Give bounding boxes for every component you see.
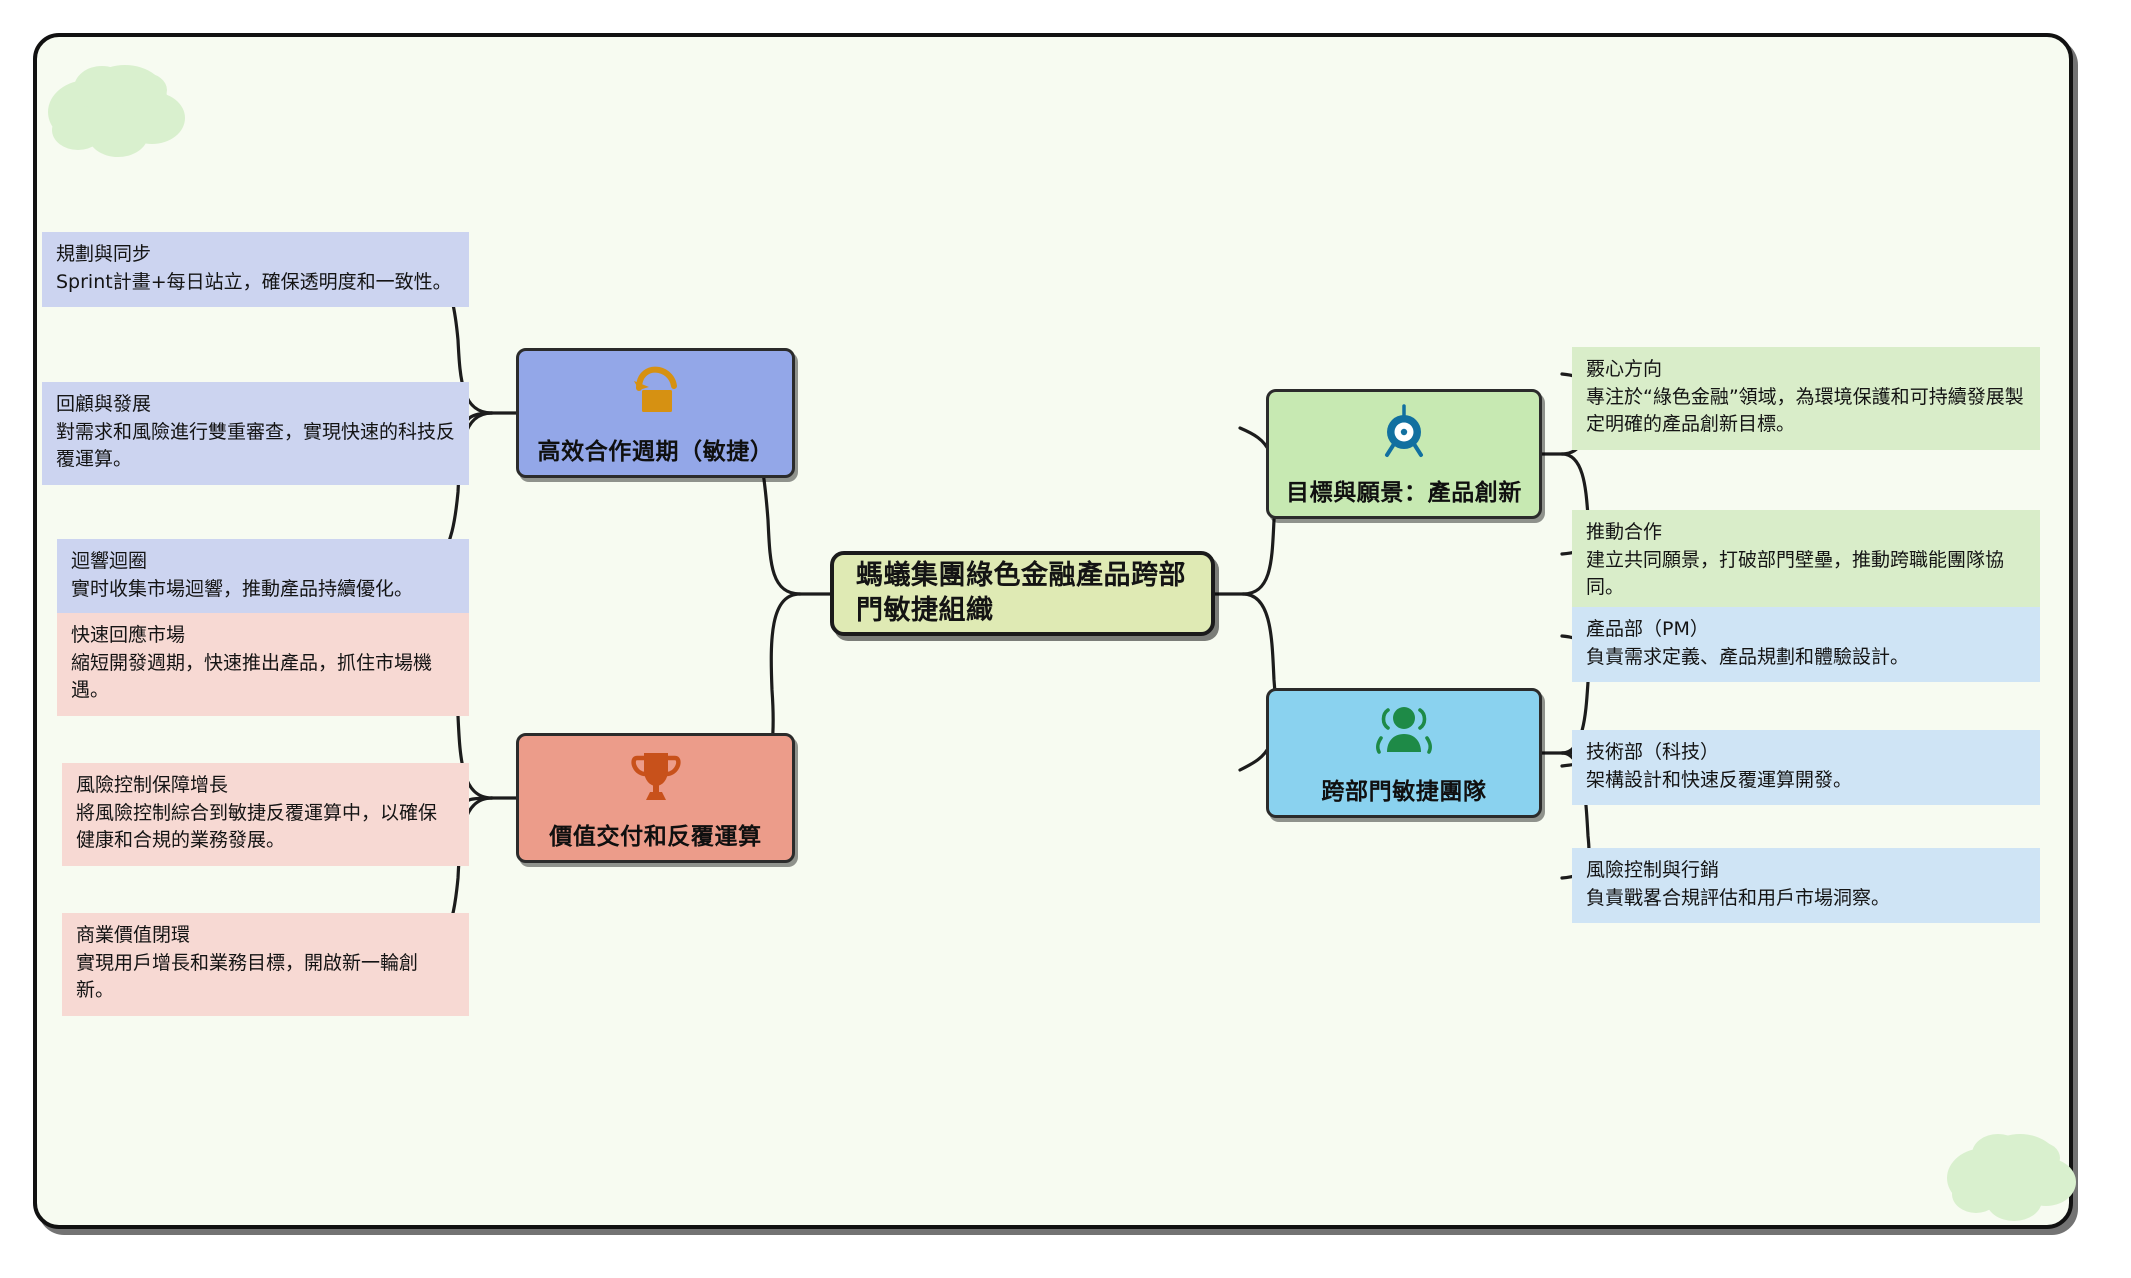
branch-label-agile: 高效合作週期（敏捷） [538, 432, 774, 466]
branch-label-value: 價值交付和反覆運算 [549, 817, 761, 851]
branch-label-team: 跨部門敏捷團隊 [1321, 772, 1486, 806]
trophy-icon [519, 736, 792, 817]
target-icon [1269, 392, 1539, 473]
leaf-description: 縮短開發週期，快速推出產品，抓住市場機遇。 [71, 650, 455, 705]
leaf-description: 實时收集市場迴響，推動產品持續優化。 [71, 576, 455, 604]
leaf-node[interactable]: 快速回應市場 縮短開發週期，快速推出產品，抓住市場機遇。 [57, 613, 469, 716]
leaf-description: Sprint計畫+每日站立，確保透明度和一致性。 [56, 269, 455, 297]
leaf-description: 將風險控制綜合到敏捷反覆運算中，以確保健康和合規的業務發展。 [76, 800, 455, 855]
unlock-icon [519, 351, 792, 432]
leaf-title: 技術部（科技） [1586, 739, 2026, 767]
leaf-title: 回顧與發展 [56, 391, 455, 419]
leaf-title: 覈心方向 [1586, 356, 2026, 384]
leaf-node[interactable]: 風險控制與行銷 負責戰畧合規評估和用戶市場洞察。 [1572, 848, 2040, 923]
branch-node-team[interactable]: 跨部門敏捷團隊 [1266, 688, 1542, 818]
leaf-node[interactable]: 覈心方向 專注於“綠色金融”領域，為環境保護和可持續發展製定明確的產品創新目標。 [1572, 347, 2040, 450]
leaf-title: 風險控制保障增長 [76, 772, 455, 800]
central-node-label: 螞蟻集團綠色金融產品跨部門敏捷組織 [856, 559, 1189, 628]
branch-label-goal: 目標與願景：產品創新 [1286, 473, 1522, 507]
leaf-description: 對需求和風險進行雙重審查，實現快速的科技反覆運算。 [56, 419, 455, 474]
mindmap-canvas: 螞蟻集團綠色金融產品跨部門敏捷組織 高效合作週期（敏捷） 價值交付和反覆運算 [0, 0, 2131, 1278]
leaf-description: 負責需求定義、產品規劃和體驗設計。 [1586, 644, 2026, 672]
leaf-node[interactable]: 迴響迴圈 實时收集市場迴響，推動產品持續優化。 [57, 539, 469, 614]
leaf-description: 負責戰畧合規評估和用戶市場洞察。 [1586, 885, 2026, 913]
branch-node-goal[interactable]: 目標與願景：產品創新 [1266, 389, 1542, 519]
leaf-title: 推動合作 [1586, 519, 2026, 547]
leaf-description: 建立共同願景，打破部門壁壘，推動跨職能團隊協同。 [1586, 547, 2026, 602]
leaf-title: 產品部（PM） [1586, 616, 2026, 644]
central-node[interactable]: 螞蟻集團綠色金融產品跨部門敏捷組織 [830, 551, 1215, 636]
leaf-description: 實現用戶增長和業務目標，開啟新一輪創新。 [76, 950, 455, 1005]
leaf-description: 架構設計和快速反覆運算開發。 [1586, 767, 2026, 795]
leaf-title: 商業價值閉環 [76, 922, 455, 950]
leaf-title: 迴響迴圈 [71, 548, 455, 576]
leaf-node[interactable]: 風險控制保障增長 將風險控制綜合到敏捷反覆運算中，以確保健康和合規的業務發展。 [62, 763, 469, 866]
leaf-node[interactable]: 產品部（PM） 負責需求定義、產品規劃和體驗設計。 [1572, 607, 2040, 682]
leaf-node[interactable]: 推動合作 建立共同願景，打破部門壁壘，推動跨職能團隊協同。 [1572, 510, 2040, 613]
leaf-description: 專注於“綠色金融”領域，為環境保護和可持續發展製定明確的產品創新目標。 [1586, 384, 2026, 439]
branch-node-value[interactable]: 價值交付和反覆運算 [516, 733, 795, 863]
leaf-node[interactable]: 技術部（科技） 架構設計和快速反覆運算開發。 [1572, 730, 2040, 805]
leaf-node[interactable]: 規劃與同步 Sprint計畫+每日站立，確保透明度和一致性。 [42, 232, 469, 307]
leaf-title: 風險控制與行銷 [1586, 857, 2026, 885]
leaf-node[interactable]: 回顧與發展 對需求和風險進行雙重審查，實現快速的科技反覆運算。 [42, 382, 469, 485]
leaf-title: 快速回應市場 [71, 622, 455, 650]
team-person-icon [1269, 691, 1539, 772]
leaf-title: 規劃與同步 [56, 241, 455, 269]
branch-node-agile[interactable]: 高效合作週期（敏捷） [516, 348, 795, 478]
leaf-node[interactable]: 商業價值閉環 實現用戶增長和業務目標，開啟新一輪創新。 [62, 913, 469, 1016]
